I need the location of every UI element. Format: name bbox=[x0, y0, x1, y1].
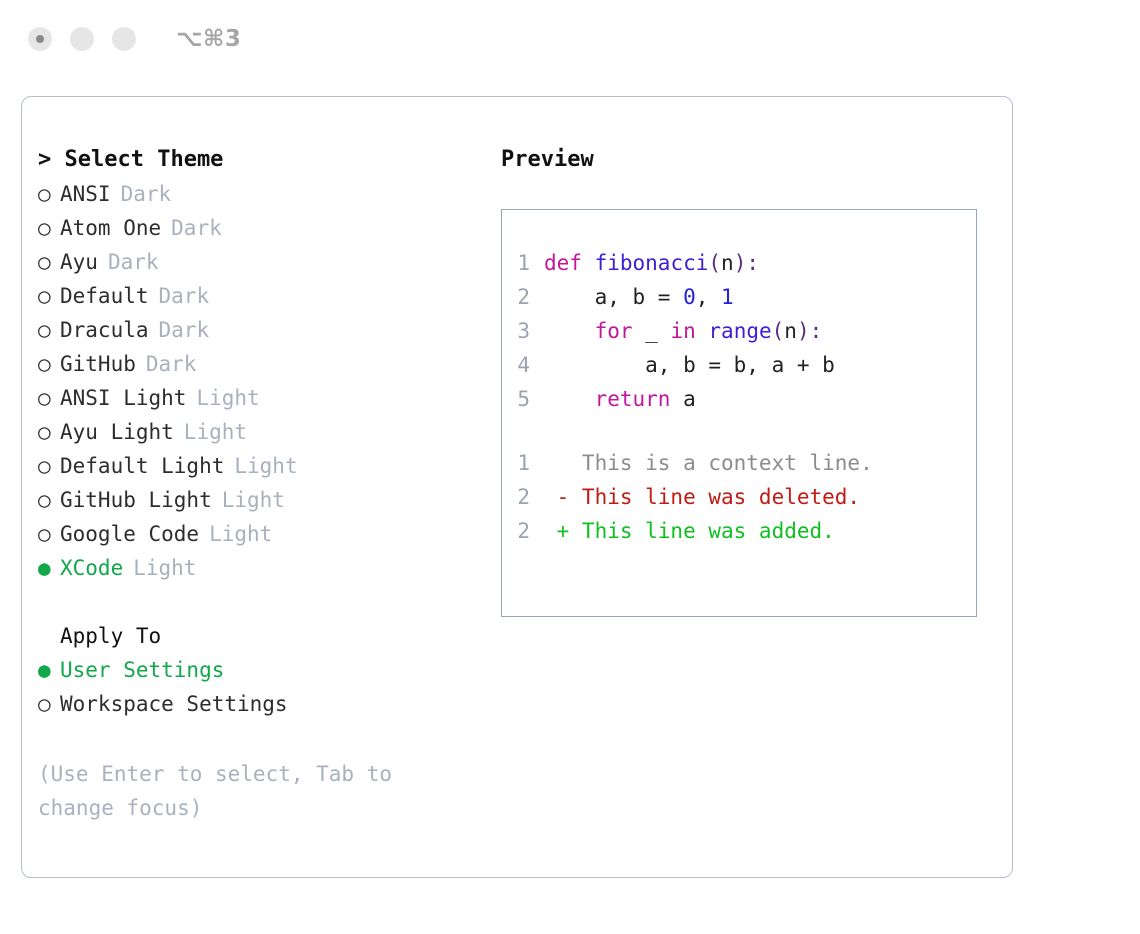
line-number: 1 bbox=[502, 246, 544, 280]
line-number: 1 bbox=[502, 446, 544, 480]
token: , bbox=[696, 285, 721, 309]
theme-list: ○ANSIDark○Atom OneDark○AyuDark○DefaultDa… bbox=[38, 177, 488, 585]
token: ): bbox=[797, 319, 822, 343]
theme-variant-tag: Dark bbox=[161, 211, 222, 245]
code-line: 2 a, b = 0, 1 bbox=[502, 280, 976, 314]
code-line: 4 a, b = b, a + b bbox=[502, 348, 976, 382]
window-titlebar: ⌥⌘3 bbox=[0, 0, 1140, 78]
theme-variant-tag: Light bbox=[199, 517, 272, 551]
code-line: 1def fibonacci(n): bbox=[502, 246, 976, 280]
preview-box: 1def fibonacci(n):2 a, b = 0, 13 for _ i… bbox=[501, 209, 977, 617]
apply-to-option-user-settings[interactable]: ●User Settings bbox=[38, 653, 488, 687]
window-dot-second[interactable] bbox=[70, 27, 94, 51]
window-dot-active[interactable] bbox=[28, 27, 52, 51]
token: n bbox=[784, 319, 797, 343]
token: + This line was added. bbox=[544, 519, 835, 543]
theme-name: GitHub Light bbox=[60, 483, 212, 517]
radio-unselected-icon: ○ bbox=[38, 449, 60, 483]
theme-variant-tag: Dark bbox=[111, 177, 172, 211]
line-number: 5 bbox=[502, 382, 544, 416]
token: a, b = bbox=[544, 285, 683, 309]
radio-unselected-icon: ○ bbox=[38, 347, 60, 381]
theme-option-github[interactable]: ○GitHubDark bbox=[38, 347, 488, 381]
active-dot-icon bbox=[36, 35, 44, 43]
preview-heading: Preview bbox=[501, 143, 991, 177]
line-content: for _ in range(n): bbox=[544, 314, 822, 348]
theme-name: Default Light bbox=[60, 449, 224, 483]
theme-name: Ayu Light bbox=[60, 415, 174, 449]
radio-unselected-icon: ○ bbox=[38, 245, 60, 279]
theme-selection-column: > Select Theme ○ANSIDark○Atom OneDark○Ay… bbox=[38, 143, 488, 825]
theme-option-google-code[interactable]: ○Google CodeLight bbox=[38, 517, 488, 551]
line-number: 3 bbox=[502, 314, 544, 348]
token bbox=[544, 319, 595, 343]
code-sample: 1def fibonacci(n):2 a, b = 0, 13 for _ i… bbox=[502, 246, 976, 416]
token: return bbox=[595, 387, 671, 411]
token: 1 bbox=[721, 285, 734, 309]
diff-line: 1 This is a context line. bbox=[502, 446, 976, 480]
token: range bbox=[708, 319, 771, 343]
theme-name: XCode bbox=[60, 551, 123, 585]
token bbox=[582, 251, 595, 275]
preview-spacer bbox=[502, 416, 976, 446]
line-number: 2 bbox=[502, 280, 544, 314]
line-content: def fibonacci(n): bbox=[544, 246, 759, 280]
theme-name: Default bbox=[60, 279, 149, 313]
theme-name: ANSI Light bbox=[60, 381, 186, 415]
radio-selected-icon: ● bbox=[38, 653, 60, 687]
token: _ bbox=[633, 319, 671, 343]
theme-name: ANSI bbox=[60, 177, 111, 211]
line-content: a, b = b, a + b bbox=[544, 348, 835, 382]
keyboard-shortcut-label: ⌥⌘3 bbox=[176, 26, 241, 52]
apply-to-label: Workspace Settings bbox=[60, 687, 288, 721]
line-content: a, b = 0, 1 bbox=[544, 280, 734, 314]
diff-line: 2 + This line was added. bbox=[502, 514, 976, 548]
theme-option-dracula[interactable]: ○DraculaDark bbox=[38, 313, 488, 347]
token: a, b = b, a + b bbox=[544, 353, 835, 377]
theme-variant-tag: Light bbox=[174, 415, 247, 449]
theme-option-ansi[interactable]: ○ANSIDark bbox=[38, 177, 488, 211]
line-content: - This line was deleted. bbox=[544, 480, 860, 514]
radio-unselected-icon: ○ bbox=[38, 483, 60, 517]
theme-variant-tag: Light bbox=[186, 381, 259, 415]
token bbox=[544, 387, 595, 411]
theme-option-atom-one[interactable]: ○Atom OneDark bbox=[38, 211, 488, 245]
theme-variant-tag: Dark bbox=[149, 279, 210, 313]
token: a bbox=[670, 387, 695, 411]
preview-column: Preview 1def fibonacci(n):2 a, b = 0, 13… bbox=[501, 143, 991, 617]
radio-unselected-icon: ○ bbox=[38, 415, 60, 449]
line-content: + This line was added. bbox=[544, 514, 835, 548]
diff-line: 2 - This line was deleted. bbox=[502, 480, 976, 514]
token: ( bbox=[708, 251, 721, 275]
theme-variant-tag: Light bbox=[224, 449, 297, 483]
token: for bbox=[595, 319, 633, 343]
radio-unselected-icon: ○ bbox=[38, 517, 60, 551]
theme-name: Atom One bbox=[60, 211, 161, 245]
theme-variant-tag: Light bbox=[212, 483, 285, 517]
apply-to-option-workspace-settings[interactable]: ○Workspace Settings bbox=[38, 687, 488, 721]
radio-unselected-icon: ○ bbox=[38, 211, 60, 245]
theme-option-xcode[interactable]: ●XCodeLight bbox=[38, 551, 488, 585]
keyboard-hint-text: (Use Enter to select, Tab to change focu… bbox=[38, 757, 448, 825]
theme-option-ansi-light[interactable]: ○ANSI LightLight bbox=[38, 381, 488, 415]
theme-variant-tag: Dark bbox=[149, 313, 210, 347]
theme-option-default-light[interactable]: ○Default LightLight bbox=[38, 449, 488, 483]
theme-variant-tag: Dark bbox=[98, 245, 159, 279]
apply-to-heading: Apply To bbox=[38, 619, 488, 653]
token: n bbox=[721, 251, 734, 275]
radio-unselected-icon: ○ bbox=[38, 687, 60, 721]
apply-to-label: User Settings bbox=[60, 653, 224, 687]
token: - This line was deleted. bbox=[544, 485, 860, 509]
theme-name: Dracula bbox=[60, 313, 149, 347]
token: fibonacci bbox=[595, 251, 709, 275]
radio-unselected-icon: ○ bbox=[38, 177, 60, 211]
line-number: 4 bbox=[502, 348, 544, 382]
theme-name: Ayu bbox=[60, 245, 98, 279]
token: in bbox=[670, 319, 695, 343]
line-number: 2 bbox=[502, 480, 544, 514]
radio-unselected-icon: ○ bbox=[38, 381, 60, 415]
code-line: 3 for _ in range(n): bbox=[502, 314, 976, 348]
theme-name: Google Code bbox=[60, 517, 199, 551]
radio-selected-icon: ● bbox=[38, 551, 60, 585]
app-window: ⌥⌘3 > Select Theme ○ANSIDark○Atom OneDar… bbox=[0, 0, 1140, 934]
theme-option-github-light[interactable]: ○GitHub LightLight bbox=[38, 483, 488, 517]
line-content: This is a context line. bbox=[544, 446, 873, 480]
theme-option-default[interactable]: ○DefaultDark bbox=[38, 279, 488, 313]
radio-unselected-icon: ○ bbox=[38, 313, 60, 347]
token: This is a context line. bbox=[544, 451, 873, 475]
token: ): bbox=[734, 251, 759, 275]
token bbox=[696, 319, 709, 343]
theme-option-ayu[interactable]: ○AyuDark bbox=[38, 245, 488, 279]
theme-name: GitHub bbox=[60, 347, 136, 381]
code-line: 5 return a bbox=[502, 382, 976, 416]
line-content: return a bbox=[544, 382, 696, 416]
line-number: 2 bbox=[502, 514, 544, 548]
select-theme-heading: > Select Theme bbox=[38, 143, 488, 177]
window-controls bbox=[28, 27, 136, 51]
token: def bbox=[544, 251, 582, 275]
main-panel: > Select Theme ○ANSIDark○Atom OneDark○Ay… bbox=[21, 96, 1013, 878]
radio-unselected-icon: ○ bbox=[38, 279, 60, 313]
diff-sample: 1 This is a context line.2 - This line w… bbox=[502, 446, 976, 548]
theme-variant-tag: Dark bbox=[136, 347, 197, 381]
theme-variant-tag: Light bbox=[123, 551, 196, 585]
apply-to-list: ●User Settings○Workspace Settings bbox=[38, 653, 488, 721]
token: ( bbox=[772, 319, 785, 343]
window-dot-third[interactable] bbox=[112, 27, 136, 51]
theme-option-ayu-light[interactable]: ○Ayu LightLight bbox=[38, 415, 488, 449]
token: 0 bbox=[683, 285, 696, 309]
